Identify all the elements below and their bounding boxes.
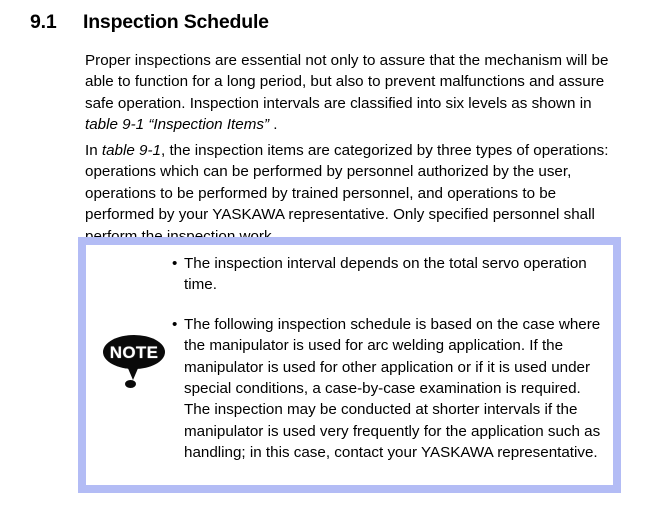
bullet-marker: • (172, 253, 177, 274)
note-item-text: The inspection may be conducted at short… (184, 399, 607, 463)
table-reference: table 9-1 (102, 142, 161, 159)
body-paragraph-2: In table 9-1, the inspection items are c… (85, 140, 625, 247)
note-list-item: •The following inspection schedule is ba… (172, 314, 607, 464)
paragraph-text: Proper inspections are essential not onl… (85, 52, 608, 112)
paragraph-text: . (269, 116, 277, 133)
note-icon: NOTE (98, 335, 168, 395)
note-item-text: The inspection interval depends on the t… (184, 253, 607, 296)
note-bubble-shape: NOTE (103, 335, 165, 369)
section-number: 9.1 (30, 11, 83, 34)
paragraph-text: , the inspection items are categorized b… (85, 142, 608, 245)
note-list-item: •The inspection interval depends on the … (172, 253, 607, 296)
section-title: Inspection Schedule (83, 11, 269, 34)
page-title: 9.1 Inspection Schedule (30, 11, 269, 34)
note-bubble-tail (127, 366, 139, 380)
note-bubble-dot (125, 380, 136, 388)
note-callout-box: NOTE •The inspection interval depends on… (78, 237, 621, 493)
body-paragraph-1: Proper inspections are essential not onl… (85, 50, 625, 136)
table-reference: table 9-1 “Inspection Items” (85, 116, 269, 133)
note-item-text: The following inspection schedule is bas… (184, 314, 607, 400)
bullet-marker: • (172, 314, 177, 335)
note-bullet-list: •The inspection interval depends on the … (172, 253, 607, 464)
note-icon-label: NOTE (110, 344, 158, 361)
paragraph-text: In (85, 142, 102, 159)
